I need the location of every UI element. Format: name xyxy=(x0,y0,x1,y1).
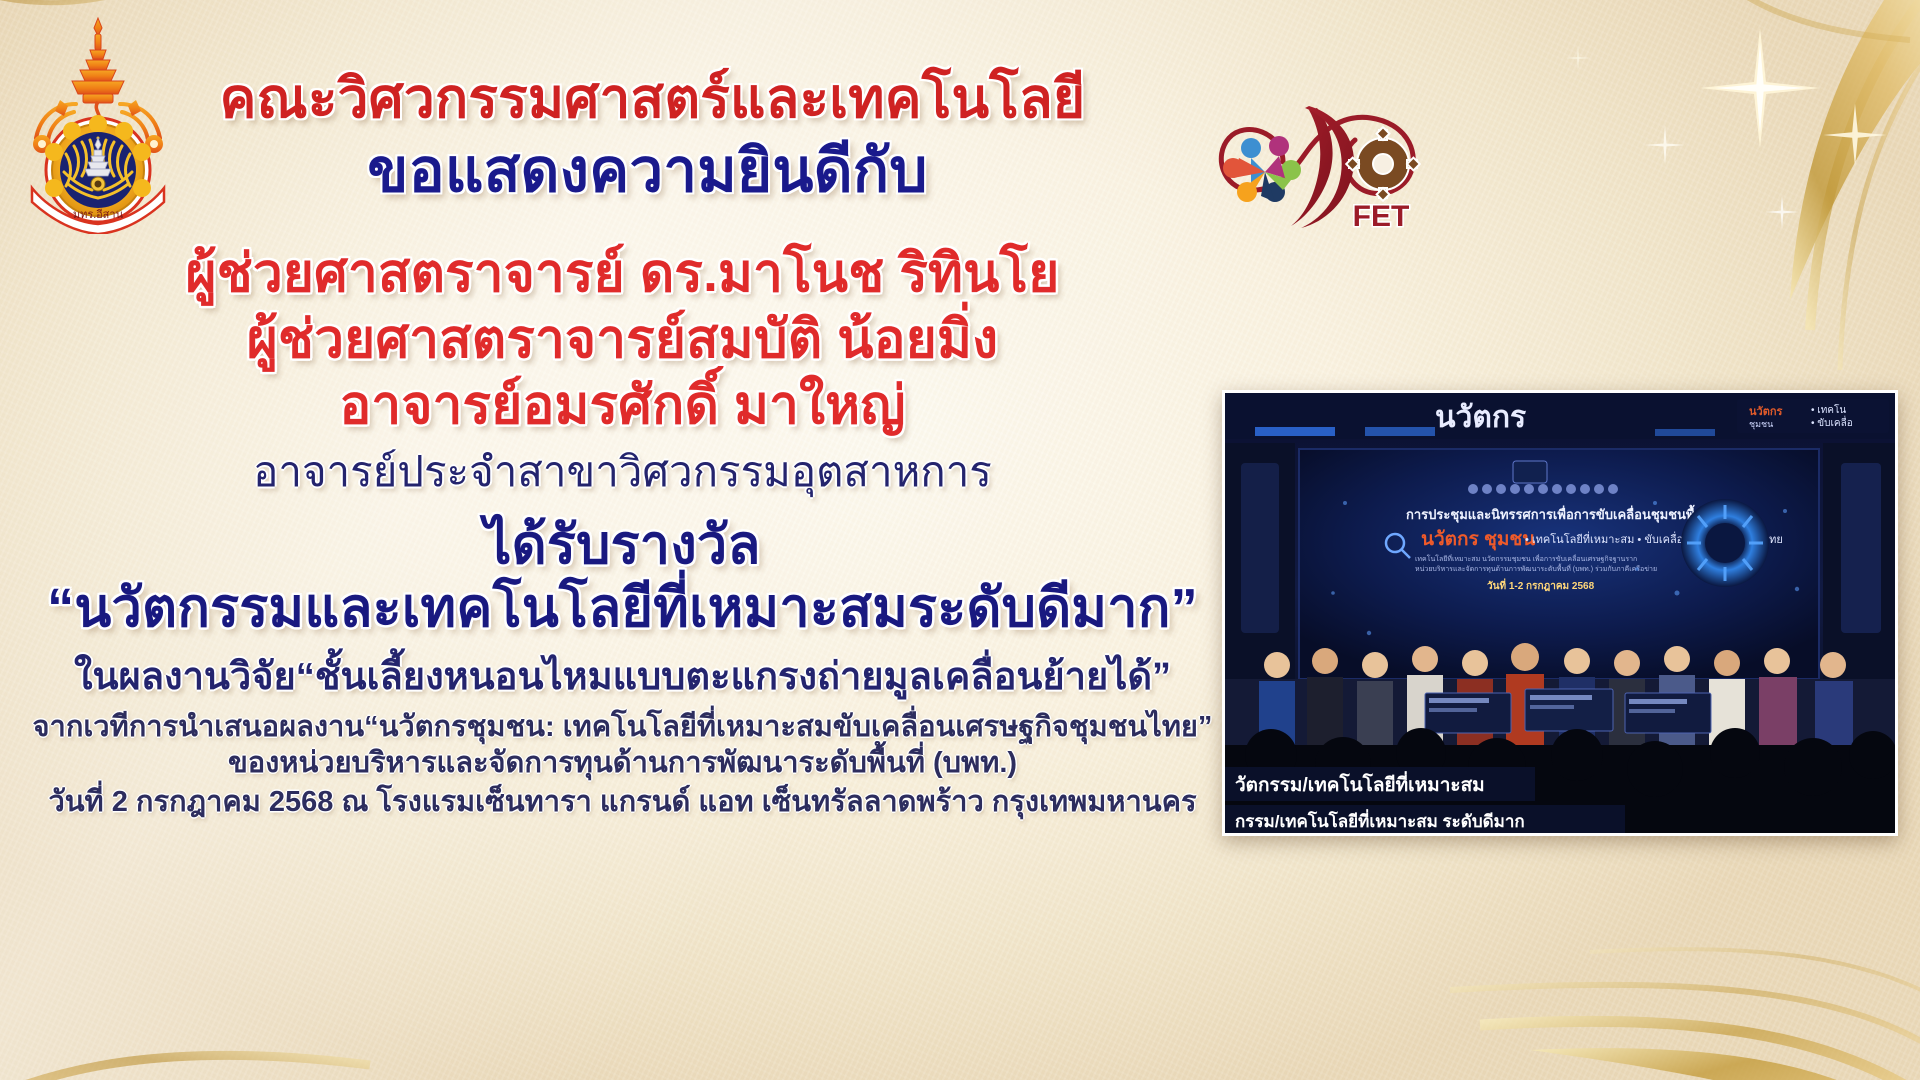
faculty-title: คณะวิศวกรรมศาสตร์และเทคโนโลยี xyxy=(60,70,1245,126)
svg-text:• เทคโน: • เทคโน xyxy=(1811,403,1846,416)
sparkle-star-small-icon xyxy=(1820,100,1890,170)
sparkle-dot-icon-2 xyxy=(1760,190,1804,234)
footer-line-2: ของหน่วยบริหารและจัดการทุนด้านการพัฒนาระ… xyxy=(0,749,1245,779)
award-ceremony-photo: นวัตกร นวัตกร ชุมชน • เทคโน • ขับเคลื่อ xyxy=(1222,390,1898,836)
footer-line-3: วันที่ 2 กรกฎาคม 2568 ณ โรงแรมเซ็นทารา แ… xyxy=(0,788,1245,818)
sparkle-star-icon xyxy=(1700,28,1820,148)
svg-text:เทคโนโลยีที่เหมาะสม นวัตกรรมชุ: เทคโนโลยีที่เหมาะสม นวัตกรรมชุมชน เพื่อก… xyxy=(1415,554,1637,563)
award-lead-line: ได้รับรางวัล xyxy=(0,518,1245,573)
sparkle-dot-icon-3 xyxy=(1560,40,1596,76)
photo-caption-line-2: กรรม/เทคโนโลยีที่เหมาะสม ระดับดีมาก xyxy=(1235,809,1525,831)
photo-corner-badge: นวัตกร ชุมชน • เทคโน • ขับเคลื่อ xyxy=(1737,399,1889,433)
congratulation-poster: มทร.อีสาน xyxy=(0,0,1920,1080)
screen-date: วันที่ 1-2 กรกฎาคม 2568 xyxy=(1487,578,1595,592)
award-title-line: “นวัตกรรมและเทคโนโลยีที่เหมาะสมระดับดีมา… xyxy=(0,581,1245,636)
department-line: อาจารย์ประจำสาขาวิศวกรรมอุตสาหการ xyxy=(0,451,1245,494)
photo-content: นวัตกร นวัตกร ชุมชน • เทคโน • ขับเคลื่อ xyxy=(1225,393,1895,833)
poster-text-block: คณะวิศวกรรมศาสตร์และเทคโนโลยี ขอแสดงความ… xyxy=(0,0,1245,818)
svg-text:ชุมชน: ชุมชน xyxy=(1749,419,1773,430)
photo-caption-line-1: วัตกรรม/เทคโนโลยีที่เหมาะสม xyxy=(1235,771,1485,796)
screen-line-1: การประชุมและนิทรรศการเพื่อการขับเคลื่อนช… xyxy=(1406,504,1712,523)
gold-corner-flourish-bottom-left xyxy=(0,840,500,1080)
svg-text:นวัตกร: นวัตกร xyxy=(1749,405,1783,418)
stage-banner-headline: นวัตกร xyxy=(1435,401,1526,434)
honoree-name-2: ผู้ช่วยศาสตราจารย์สมบัติ น้อยมิ่ง xyxy=(0,313,1245,367)
fet-wordmark: FET xyxy=(1353,200,1410,232)
screen-brand: นวัตกร ชุมชน xyxy=(1421,529,1535,551)
sparkle-dot-icon xyxy=(1640,120,1690,170)
honoree-name-1: ผู้ช่วยศาสตราจารย์ ดร.มาโนช ริทินโย xyxy=(0,247,1245,301)
footer-line-1: จากเวทีการนำเสนอผลงาน“นวัตกรชุมชน: เทคโน… xyxy=(0,713,1245,743)
svg-text:• ขับเคลื่อ: • ขับเคลื่อ xyxy=(1811,415,1853,429)
congratulations-title: ขอแสดงความยินดีกับ xyxy=(50,140,1245,201)
research-work-line: ในผลงานวิจัย“ชั้นเลี้ยงหนอนไหมแบบตะแกรงถ… xyxy=(0,658,1245,697)
honoree-name-3: อาจารย์อมรศักดิ์ มาใหญ่ xyxy=(0,379,1245,433)
